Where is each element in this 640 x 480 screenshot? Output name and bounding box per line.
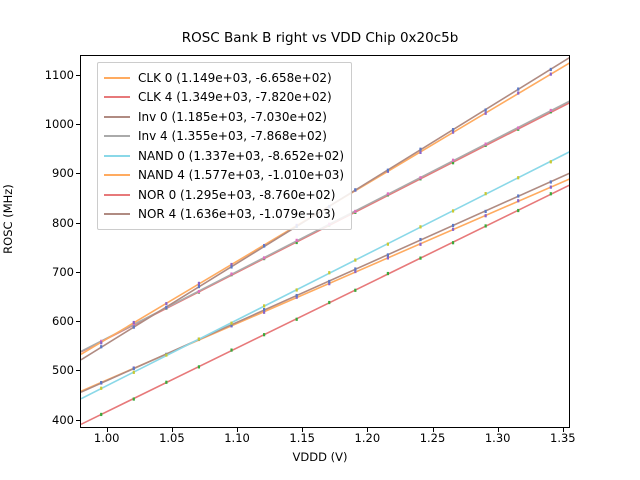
y-tick-label: 700 (52, 266, 74, 278)
scatter-point (387, 256, 389, 259)
legend-color-swatch (104, 194, 130, 196)
scatter-point (133, 367, 135, 370)
x-tick-label: 1.00 (94, 432, 120, 445)
scatter-point (296, 294, 298, 297)
scatter-point (550, 180, 552, 183)
legend-item[interactable]: NOR 4 (1.636e+03, -1.079e+03) (104, 205, 344, 225)
scatter-point (485, 143, 487, 146)
scatter-point (387, 272, 389, 275)
x-axis-label: VDDD (V) (0, 450, 640, 464)
scatter-point (354, 258, 356, 261)
chart-title: ROSC Bank B right vs VDD Chip 0x20c5b (0, 30, 640, 46)
legend-label: NAND 4 (1.577e+03, -1.010e+03) (138, 168, 344, 182)
legend-item[interactable]: Inv 4 (1.355e+03, -7.868e+02) (104, 127, 344, 147)
legend-item[interactable]: NOR 0 (1.295e+03, -8.760e+02) (104, 185, 344, 205)
scatter-point (198, 365, 200, 368)
scatter-point (419, 151, 421, 154)
scatter-point (550, 68, 552, 71)
scatter-point (452, 241, 454, 244)
legend-item[interactable]: CLK 4 (1.349e+03, -7.820e+02) (104, 88, 344, 108)
scatter-point (517, 126, 519, 129)
legend-label: NOR 0 (1.295e+03, -8.760e+02) (138, 188, 335, 202)
scatter-point (230, 349, 232, 352)
scatter-point (354, 188, 356, 191)
scatter-point (485, 214, 487, 217)
scatter-point (198, 290, 200, 293)
scatter-point (263, 304, 265, 307)
legend-color-swatch (104, 96, 130, 98)
legend-label: Inv 0 (1.185e+03, -7.030e+02) (138, 110, 327, 124)
scatter-point (263, 256, 265, 259)
x-tick-label: 1.30 (485, 432, 511, 445)
scatter-point (419, 243, 421, 246)
x-tick-label: 1.25 (420, 432, 446, 445)
scatter-point (550, 186, 552, 189)
scatter-point (387, 243, 389, 246)
y-tick-label: 400 (52, 414, 74, 426)
legend-label: NAND 0 (1.337e+03, -8.652e+02) (138, 149, 344, 163)
y-tick-label: 1100 (45, 69, 74, 81)
legend-color-swatch (104, 155, 130, 157)
scatter-point (296, 288, 298, 291)
scatter-point (198, 285, 200, 288)
legend-item[interactable]: NAND 4 (1.577e+03, -1.010e+03) (104, 166, 344, 186)
scatter-point (387, 169, 389, 172)
scatter-point (387, 192, 389, 195)
scatter-point (354, 289, 356, 292)
scatter-point (100, 387, 102, 390)
legend-label: CLK 4 (1.349e+03, -7.820e+02) (138, 90, 332, 104)
scatter-point (230, 272, 232, 275)
scatter-point (485, 108, 487, 111)
x-tick-mark (302, 428, 303, 432)
scatter-point (550, 73, 552, 76)
x-tick-mark (563, 428, 564, 432)
scatter-point (165, 306, 167, 309)
scatter-point (452, 224, 454, 227)
scatter-point (165, 302, 167, 305)
scatter-point (263, 333, 265, 336)
scatter-point (419, 225, 421, 228)
scatter-point (230, 322, 232, 325)
scatter-point (263, 244, 265, 247)
scatter-point (100, 341, 102, 344)
scatter-point (198, 282, 200, 285)
x-tick-label: 1.15 (289, 432, 315, 445)
scatter-point (296, 239, 298, 242)
scatter-point (517, 87, 519, 90)
legend-label: NOR 4 (1.636e+03, -1.079e+03) (138, 207, 335, 221)
scatter-point (296, 318, 298, 321)
legend-label: Inv 4 (1.355e+03, -7.868e+02) (138, 129, 327, 143)
scatter-point (100, 345, 102, 348)
scatter-point (517, 91, 519, 94)
scatter-point (328, 301, 330, 304)
scatter-point (485, 210, 487, 213)
x-tick-mark (237, 428, 238, 432)
legend-color-swatch (104, 77, 130, 79)
legend-color-swatch (104, 135, 130, 137)
figure-canvas: ROSC Bank B right vs VDD Chip 0x20c5b 40… (0, 0, 640, 480)
scatter-point (133, 321, 135, 324)
scatter-point (550, 192, 552, 195)
scatter-point (354, 267, 356, 270)
scatter-point (133, 326, 135, 329)
scatter-point (485, 224, 487, 227)
scatter-point (517, 194, 519, 197)
x-tick-label: 1.10 (224, 432, 250, 445)
scatter-point (550, 109, 552, 112)
y-tick-label: 500 (52, 364, 74, 376)
scatter-point (387, 253, 389, 256)
scatter-point (419, 238, 421, 241)
scatter-point (517, 199, 519, 202)
scatter-point (230, 265, 232, 268)
scatter-point (452, 209, 454, 212)
y-axis-label: ROSC (MHz) (1, 139, 15, 299)
scatter-point (165, 381, 167, 384)
scatter-point (419, 176, 421, 179)
legend-item[interactable]: NAND 0 (1.337e+03, -8.652e+02) (104, 146, 344, 166)
legend-color-swatch (104, 174, 130, 176)
y-tick-label: 800 (52, 217, 74, 229)
x-tick-label: 1.05 (159, 432, 185, 445)
scatter-point (133, 371, 135, 374)
x-tick-mark (433, 428, 434, 432)
scatter-point (100, 413, 102, 416)
scatter-point (485, 192, 487, 195)
scatter-point (328, 271, 330, 274)
scatter-point (517, 209, 519, 212)
scatter-point (328, 280, 330, 283)
scatter-point (452, 128, 454, 131)
x-tick-mark (107, 428, 108, 432)
chart-legend: CLK 0 (1.149e+03, -6.658e+02)CLK 4 (1.34… (97, 62, 352, 230)
legend-label: CLK 0 (1.149e+03, -6.658e+02) (138, 71, 332, 85)
x-tick-mark (172, 428, 173, 432)
y-tick-label: 900 (52, 167, 74, 179)
scatter-point (263, 308, 265, 311)
x-tick-mark (498, 428, 499, 432)
scatter-point (419, 257, 421, 260)
scatter-point (485, 112, 487, 115)
scatter-point (100, 381, 102, 384)
scatter-point (165, 353, 167, 356)
scatter-point (452, 228, 454, 231)
scatter-point (517, 176, 519, 179)
legend-item[interactable]: CLK 0 (1.149e+03, -6.658e+02) (104, 68, 344, 88)
scatter-point (354, 210, 356, 213)
scatter-point (419, 148, 421, 151)
scatter-point (133, 397, 135, 400)
legend-item[interactable]: Inv 0 (1.185e+03, -7.030e+02) (104, 107, 344, 127)
scatter-point (550, 160, 552, 163)
x-tick-label: 1.20 (355, 432, 381, 445)
legend-color-swatch (104, 213, 130, 215)
x-tick-label: 1.35 (550, 432, 576, 445)
y-tick-label: 600 (52, 315, 74, 327)
y-tick-label: 1000 (45, 118, 74, 130)
x-tick-mark (367, 428, 368, 432)
scatter-point (452, 159, 454, 162)
scatter-point (198, 338, 200, 341)
legend-color-swatch (104, 116, 130, 118)
